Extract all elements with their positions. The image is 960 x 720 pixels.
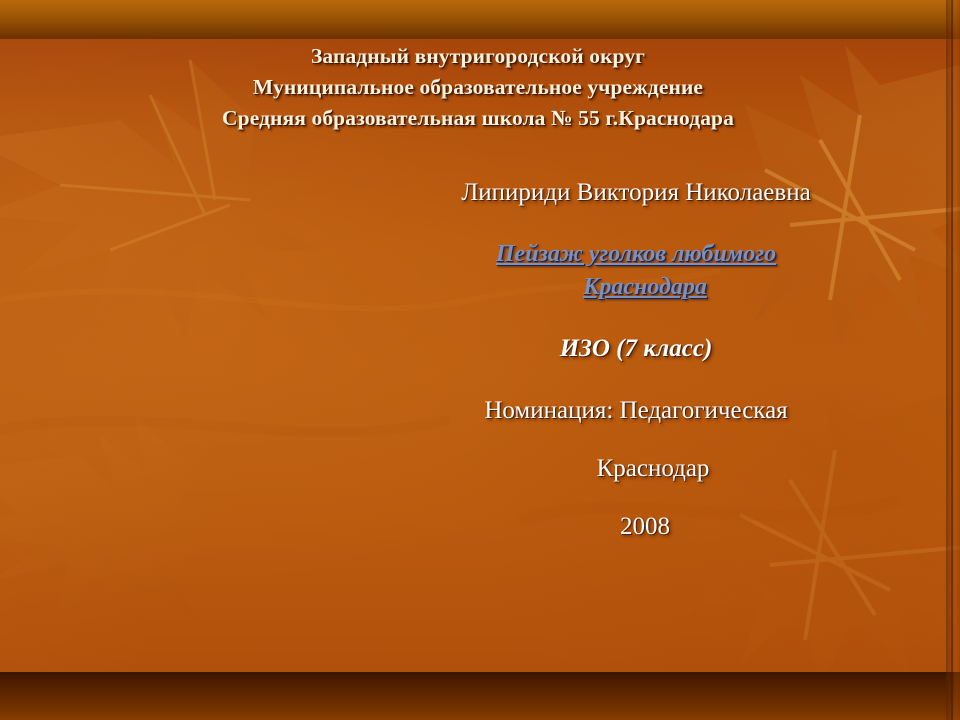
slide-body: Липириди Виктория Николаевна Пейзаж угол… xyxy=(398,176,874,544)
project-title-line-2: Краснодара xyxy=(565,274,707,300)
city-name: Краснодар xyxy=(398,452,874,486)
right-divider-line xyxy=(951,0,953,720)
spacer-4 xyxy=(398,428,874,452)
subject-grade: ИЗО (7 класс) xyxy=(398,332,874,366)
spacer-5 xyxy=(398,486,874,510)
spacer-3 xyxy=(398,366,874,394)
presentation-title-slide: Западный внутригородской округ Муниципал… xyxy=(0,0,960,720)
spacer-2 xyxy=(398,304,874,332)
heading-line-3: Средняя образовательная школа № 55 г.Кра… xyxy=(60,103,896,134)
author-name: Липириди Виктория Николаевна xyxy=(398,176,874,210)
nomination-label: Номинация: Педагогическая xyxy=(398,394,874,428)
spacer-1 xyxy=(398,210,874,238)
project-title-hyperlink[interactable]: Пейзаж уголков любимого Краснодара xyxy=(398,238,874,304)
slide-heading: Западный внутригородской округ Муниципал… xyxy=(60,41,896,134)
top-decorative-band xyxy=(0,0,960,39)
year: 2008 xyxy=(398,510,874,544)
project-title-line-1: Пейзаж уголков любимого xyxy=(496,241,776,267)
right-decorative-band xyxy=(946,0,960,720)
bottom-decorative-band xyxy=(0,672,960,720)
heading-line-1: Западный внутригородской округ xyxy=(60,41,896,72)
heading-line-2: Муниципальное образовательное учреждение xyxy=(60,72,896,103)
